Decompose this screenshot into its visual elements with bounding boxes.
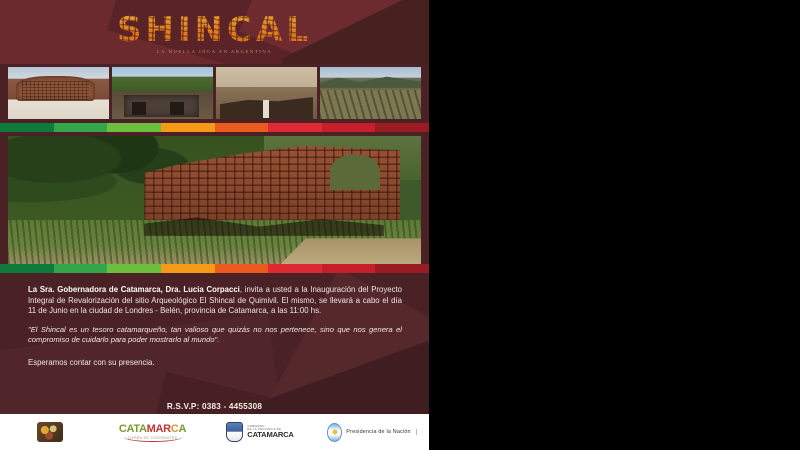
thumb-visitors-path xyxy=(216,67,317,119)
thumb-valley-landscape xyxy=(320,67,421,119)
color-stripe-top xyxy=(0,123,429,132)
stripe-segment-5 xyxy=(215,264,269,273)
closing-line: Esperamos contar con su presencia. xyxy=(28,358,402,369)
stripe-segment-4 xyxy=(161,123,215,132)
poster-footer: CATAMARCA TIERRA DE CONTRASTES GOBIERNO … xyxy=(0,414,429,450)
presidencia-label: Presidencia de la Nación xyxy=(346,429,416,435)
shincal-invitation-poster: SHINCAL LA HUELLA INCA EN ARGENTINA xyxy=(0,0,429,450)
invitation-lead: La Sra. Gobernadora de Catamarca, Dra. L… xyxy=(28,285,240,294)
stripe-segment-2 xyxy=(54,264,108,273)
poster-header: SHINCAL LA HUELLA INCA EN ARGENTINA xyxy=(0,0,429,64)
stripe-segment-7 xyxy=(322,123,376,132)
stripe-segment-7 xyxy=(322,264,376,273)
hero-wall-opening xyxy=(330,154,380,190)
logo-catamarca-turismo: CATAMARCA TIERRA DE CONTRASTES xyxy=(100,414,205,450)
invitation-copy: La Sra. Gobernadora de Catamarca, Dra. L… xyxy=(28,285,402,369)
stripe-segment-3 xyxy=(107,123,161,132)
catamarca-shield-icon xyxy=(226,422,243,442)
poster-title: SHINCAL xyxy=(117,10,312,50)
rsvp-line: R.S.V.P: 0383 - 4455308 xyxy=(0,402,429,411)
poster-subtitle: LA HUELLA INCA EN ARGENTINA xyxy=(0,49,429,54)
stripe-segment-6 xyxy=(268,264,322,273)
stripe-segment-4 xyxy=(161,264,215,273)
stripe-segment-6 xyxy=(268,123,322,132)
governor-quote: "El Shincal es un tesoro catamarqueño, t… xyxy=(28,325,402,346)
stripe-segment-1 xyxy=(0,264,54,273)
gobierno-line-3: CATAMARCA xyxy=(247,431,293,439)
stripe-segment-1 xyxy=(0,123,54,132)
stripe-segment-3 xyxy=(107,264,161,273)
logo-presidencia-nacion: Presidencia de la Nación xyxy=(315,414,429,450)
logo-shincal-seal xyxy=(0,414,100,450)
thumb-stone-house xyxy=(112,67,213,119)
argentina-sun-icon xyxy=(327,423,342,442)
stripe-segment-2 xyxy=(54,123,108,132)
logo-gobierno-catamarca: GOBIERNO DE LA PROVINCIA DE CATAMARCA xyxy=(205,414,315,450)
shincal-seal-icon xyxy=(37,422,63,442)
thumb-stone-ruin-wall xyxy=(8,67,109,119)
invitation-paragraph: La Sra. Gobernadora de Catamarca, Dra. L… xyxy=(28,285,402,317)
stripe-segment-8 xyxy=(375,264,429,273)
stripe-segment-8 xyxy=(375,123,429,132)
catamarca-swoosh-icon xyxy=(124,432,182,442)
gobierno-text-block: GOBIERNO DE LA PROVINCIA DE CATAMARCA xyxy=(247,425,293,440)
hero-photo xyxy=(8,136,421,264)
screenshot-canvas: SHINCAL LA HUELLA INCA EN ARGENTINA xyxy=(0,0,800,450)
title-block: SHINCAL LA HUELLA INCA EN ARGENTINA xyxy=(0,10,429,54)
color-stripe-bottom xyxy=(0,264,429,273)
stripe-segment-5 xyxy=(215,123,269,132)
thumbnail-strip xyxy=(8,67,421,119)
